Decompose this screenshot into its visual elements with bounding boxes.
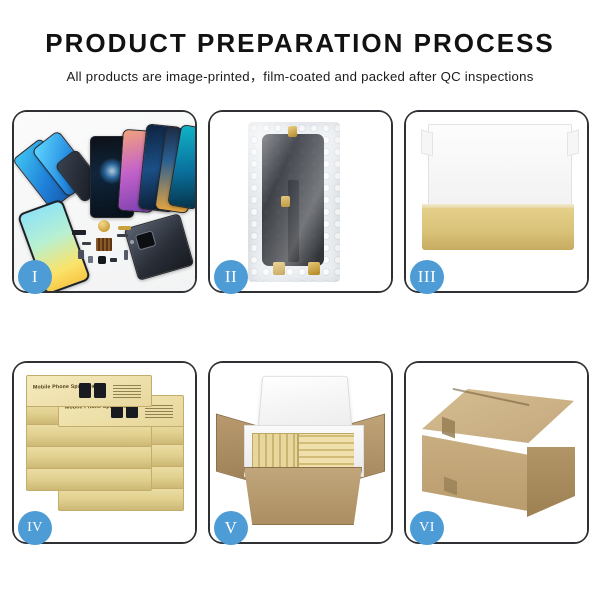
foam-cooler-contents [252, 433, 354, 469]
part-camera-icon [98, 256, 106, 264]
step-badge-3: III [410, 260, 444, 294]
part-flex-cable-icon [118, 226, 131, 230]
process-step-card-3[interactable]: III [404, 110, 589, 293]
step-badge-4: IV [18, 511, 52, 545]
part-connector-icon [117, 234, 128, 237]
foam-cooler-lid [257, 376, 352, 431]
step-badge-1: I [18, 260, 52, 294]
process-step-card-2[interactable]: II [208, 110, 393, 293]
wrapped-gold-tab-2 [281, 196, 290, 207]
sealed-carton-tape-upper [442, 417, 455, 439]
repair-parts-cluster [72, 220, 142, 272]
sealed-carton-side [527, 447, 575, 517]
part-small-2-icon [88, 256, 93, 263]
part-chip-icon [72, 230, 86, 235]
part-small-1-icon [78, 250, 84, 259]
part-gold-coil-icon [98, 220, 110, 232]
box-label-spec-lines-back [113, 383, 141, 398]
part-small-4-icon [124, 250, 128, 260]
box-label-back: Mobile Phone Spare Parts [33, 381, 145, 401]
box-label-text-back: Mobile Phone Spare Parts [33, 383, 102, 390]
box-stack: Mobile Phone Spare Parts Mobile Phone Sp… [24, 379, 188, 529]
step-badge-2: II [214, 260, 248, 294]
page-title: PRODUCT PREPARATION PROCESS [0, 30, 600, 57]
box-label-window-4-icon [94, 383, 106, 398]
part-screw-icon [130, 240, 134, 244]
box-label-window-3-icon [79, 383, 91, 398]
process-step-grid: I II III [12, 110, 588, 544]
inner-box-base [422, 208, 574, 250]
part-ic-grid-icon [96, 238, 112, 251]
page-subtitle: All products are image-printed，film-coat… [0, 66, 600, 85]
wrapped-gold-tab-4 [308, 262, 320, 275]
part-small-3-icon [110, 258, 117, 262]
process-step-card-6[interactable]: VI [404, 361, 589, 544]
stacked-box-top-back: Mobile Phone Spare Parts [26, 375, 152, 407]
page-header: PRODUCT PREPARATION PROCESS All products… [0, 0, 600, 85]
inner-box-lid [428, 124, 572, 214]
process-step-card-1[interactable]: I [12, 110, 197, 293]
yellow-boxes-group-b [298, 433, 354, 469]
wrapped-gold-tab-3 [273, 262, 285, 275]
carton-body [244, 467, 362, 525]
sealed-carton-front [422, 435, 528, 511]
process-step-card-5[interactable]: V [208, 361, 393, 544]
bubble-wrap-pack [248, 122, 340, 282]
wrapped-gold-tab-1 [288, 126, 297, 137]
part-small-5-icon [82, 242, 91, 245]
step-badge-6: VI [410, 511, 444, 545]
process-step-card-4[interactable]: Mobile Phone Spare Parts Mobile Phone Sp… [12, 361, 197, 544]
step-badge-5: V [214, 511, 248, 545]
yellow-boxes-group-a [252, 433, 298, 469]
wrapped-flex-cable [288, 180, 299, 262]
